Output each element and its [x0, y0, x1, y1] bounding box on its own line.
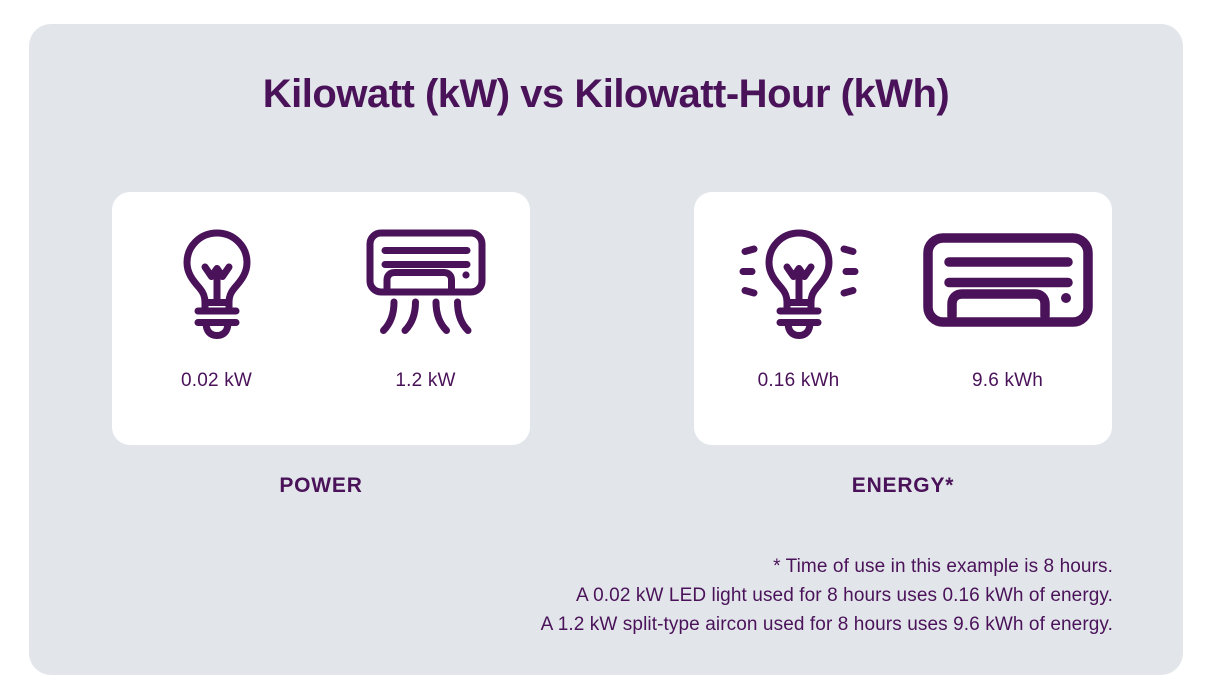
energy-card: 0.16 kWh 9.6 kWh — [694, 192, 1112, 445]
energy-card-values: 0.16 kWh 9.6 kWh — [694, 370, 1112, 392]
footnote: * Time of use in this example is 8 hours… — [541, 552, 1113, 639]
power-card: 0.02 kW 1.2 kW — [112, 192, 530, 445]
energy-aircon-value: 9.6 kWh — [903, 370, 1112, 392]
footnote-line-1: * Time of use in this example is 8 hours… — [541, 552, 1113, 581]
page-title: Kilowatt (kW) vs Kilowatt-Hour (kWh) — [29, 72, 1183, 117]
light-bulb-glowing-icon — [741, 227, 857, 341]
power-card-icons — [112, 214, 530, 354]
air-conditioner-icon-cell — [903, 214, 1112, 354]
energy-card-caption: ENERGY* — [694, 474, 1112, 498]
power-bulb-value: 0.02 kW — [112, 370, 321, 392]
air-conditioner-with-airflow-icon — [365, 229, 487, 339]
infographic-panel: Kilowatt (kW) vs Kilowatt-Hour (kWh) — [29, 24, 1183, 675]
light-bulb-glowing-icon-cell — [694, 214, 903, 354]
light-bulb-icon-cell — [112, 214, 321, 354]
footnote-line-2: A 0.02 kW LED light used for 8 hours use… — [541, 581, 1113, 610]
energy-card-icons — [694, 214, 1112, 354]
air-conditioner-with-airflow-icon-cell — [321, 214, 530, 354]
energy-bulb-value: 0.16 kWh — [694, 370, 903, 392]
power-card-caption: POWER — [112, 474, 530, 498]
light-bulb-icon — [181, 228, 253, 340]
air-conditioner-icon — [922, 232, 1094, 337]
footnote-line-3: A 1.2 kW split-type aircon used for 8 ho… — [541, 610, 1113, 639]
power-aircon-value: 1.2 kW — [321, 370, 530, 392]
power-card-values: 0.02 kW 1.2 kW — [112, 370, 530, 392]
